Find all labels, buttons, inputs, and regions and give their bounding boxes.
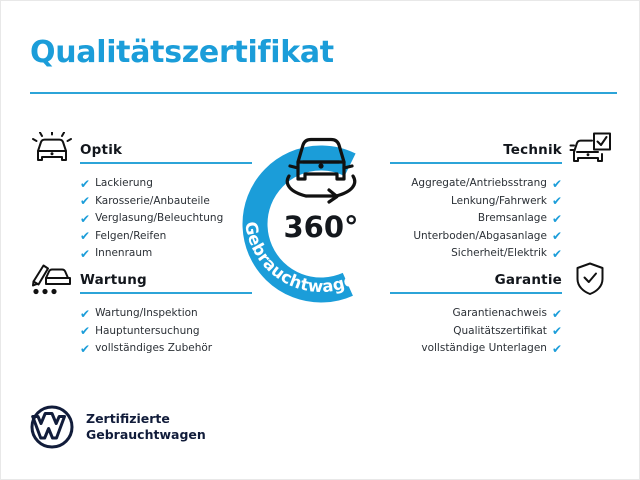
badge-degrees: 360° — [228, 210, 414, 244]
footer-brand: Zertifizierte Gebrauchtwagen — [30, 405, 206, 449]
checklist-garantie: Garantienachweis✔ Qualitätszertifikat✔ v… — [390, 305, 612, 358]
check-icon: ✔ — [552, 343, 562, 355]
list-item: vollständige Unterlagen✔ — [390, 340, 612, 358]
list-item: Bremsanlage✔ — [390, 210, 612, 228]
page-title: Qualitätszertifikat — [30, 35, 334, 70]
list-item-label: Karosserie/Anbauteile — [95, 193, 210, 211]
check-icon: ✔ — [552, 195, 562, 207]
section-title-garantie: Garantie — [495, 272, 562, 288]
list-item: ✔Hauptuntersuchung — [30, 323, 252, 341]
list-item: Garantienachweis✔ — [390, 305, 612, 323]
service-pen-car-icon — [30, 262, 74, 296]
check-icon: ✔ — [80, 308, 90, 320]
check-icon: ✔ — [552, 213, 562, 225]
list-item-label: vollständige Unterlagen — [421, 340, 547, 358]
list-item-label: Wartung/Inspektion — [95, 305, 198, 323]
checklist-wartung: ✔Wartung/Inspektion ✔Hauptuntersuchung ✔… — [30, 305, 252, 358]
check-icon: ✔ — [80, 178, 90, 190]
list-item: ✔Karosserie/Anbauteile — [30, 193, 252, 211]
list-item-label: Bremsanlage — [478, 210, 547, 228]
section-underline-wartung — [80, 292, 252, 294]
list-item-label: Hauptuntersuchung — [95, 323, 200, 341]
section-title-wartung: Wartung — [80, 272, 147, 288]
list-item: Qualitätszertifikat✔ — [390, 323, 612, 341]
list-item-label: Unterboden/Abgasanlage — [413, 228, 547, 246]
list-item-label: Qualitätszertifikat — [453, 323, 547, 341]
list-item: ✔vollständiges Zubehör — [30, 340, 252, 358]
section-header-optik: Optik — [30, 134, 252, 166]
list-item-label: Verglasung/Beleuchtung — [95, 210, 223, 228]
list-item: Lenkung/Fahrwerk✔ — [390, 193, 612, 211]
section-title-technik: Technik — [503, 142, 562, 158]
car-checkbox-icon — [568, 132, 612, 166]
check-icon: ✔ — [552, 178, 562, 190]
list-item: Unterboden/Abgasanlage✔ — [390, 228, 612, 246]
footer-text: Zertifizierte Gebrauchtwagen — [86, 411, 206, 443]
checklist-optik: ✔Lackierung ✔Karosserie/Anbauteile ✔Verg… — [30, 175, 252, 263]
volkswagen-logo — [30, 405, 74, 449]
section-technik: Technik Aggregate/Antriebsstrang✔ Lenkun… — [390, 134, 612, 279]
check-icon: ✔ — [80, 195, 90, 207]
list-item-label: Sicherheit/Elektrik — [451, 245, 547, 263]
car-shine-icon — [30, 132, 74, 166]
section-title-optik: Optik — [80, 142, 122, 158]
check-icon: ✔ — [80, 325, 90, 337]
section-wartung: Wartung ✔Wartung/Inspektion ✔Hauptunters… — [30, 264, 252, 374]
check-icon: ✔ — [80, 213, 90, 225]
check-icon: ✔ — [80, 248, 90, 260]
list-item-label: Felgen/Reifen — [95, 228, 166, 246]
list-item: ✔Felgen/Reifen — [30, 228, 252, 246]
shield-check-icon — [568, 262, 612, 296]
section-garantie: Garantie Garantienachweis✔ Qualitätszert… — [390, 264, 612, 374]
footer-line-1: Zertifizierte — [86, 411, 170, 426]
list-item: Aggregate/Antriebsstrang✔ — [390, 175, 612, 193]
list-item-label: Lackierung — [95, 175, 153, 193]
list-item-label: Aggregate/Antriebsstrang — [411, 175, 547, 193]
list-item-label: vollständiges Zubehör — [95, 340, 212, 358]
list-item: ✔Verglasung/Beleuchtung — [30, 210, 252, 228]
list-item: Sicherheit/Elektrik✔ — [390, 245, 612, 263]
header-divider — [30, 92, 617, 94]
list-item-label: Innenraum — [95, 245, 152, 263]
check-icon: ✔ — [552, 325, 562, 337]
section-underline-technik — [390, 162, 562, 164]
checklist-technik: Aggregate/Antriebsstrang✔ Lenkung/Fahrwe… — [390, 175, 612, 263]
list-item: ✔Wartung/Inspektion — [30, 305, 252, 323]
check-icon: ✔ — [80, 343, 90, 355]
list-item: ✔Innenraum — [30, 245, 252, 263]
check-icon: ✔ — [80, 230, 90, 242]
section-header-technik: Technik — [390, 134, 612, 166]
list-item-label: Lenkung/Fahrwerk — [451, 193, 547, 211]
check-icon: ✔ — [552, 230, 562, 242]
list-item-label: Garantienachweis — [453, 305, 547, 323]
check-icon: ✔ — [552, 308, 562, 320]
list-item: ✔Lackierung — [30, 175, 252, 193]
section-underline-garantie — [390, 292, 562, 294]
section-header-wartung: Wartung — [30, 264, 252, 296]
check-icon: ✔ — [552, 248, 562, 260]
section-underline-optik — [80, 162, 252, 164]
section-optik: Optik ✔Lackierung ✔Karosserie/Anbauteile… — [30, 134, 252, 279]
certificate-page: Qualitätszertifikat — [0, 0, 640, 480]
section-header-garantie: Garantie — [390, 264, 612, 296]
badge-360-gebrauchtwagen-check: Gebrauchtwagen-Check 360° — [228, 120, 414, 312]
footer-line-2: Gebrauchtwagen — [86, 427, 206, 442]
